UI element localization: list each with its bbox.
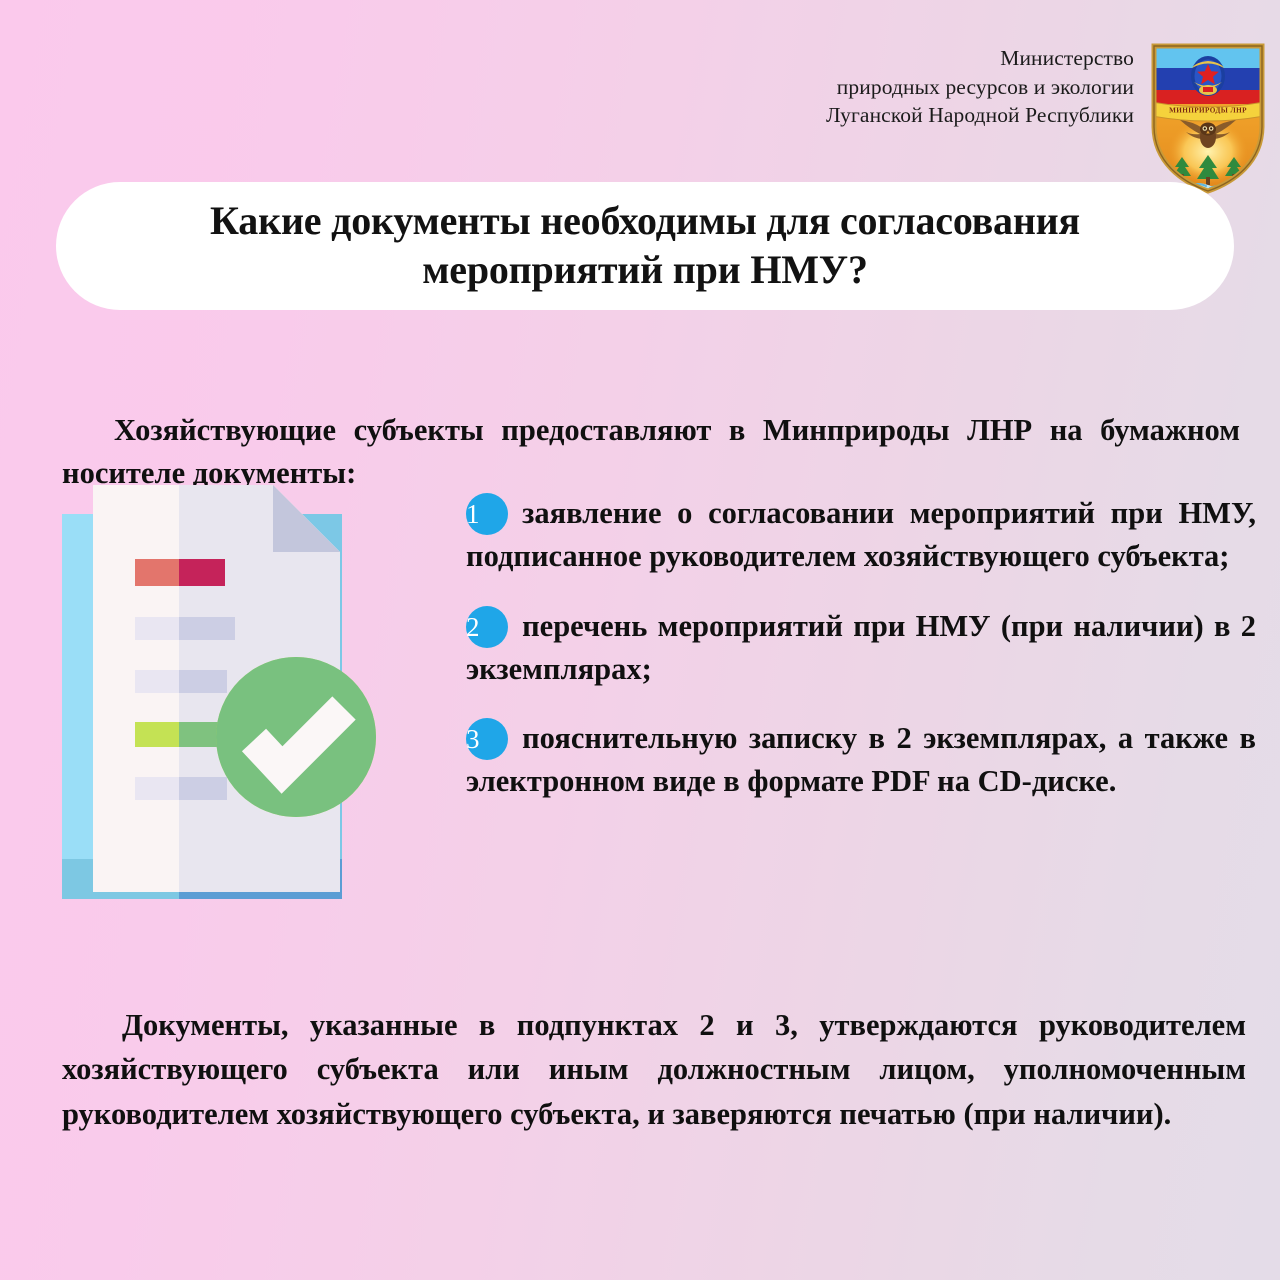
list-number-badge-1: 1	[466, 493, 508, 535]
org-line-2: природных ресурсов и экологии	[826, 73, 1134, 102]
list-number-badge-2: 2	[466, 606, 508, 648]
list-item-text-2: перечень мероприятий при НМУ (при наличи…	[466, 609, 1256, 686]
header: Министерство природных ресурсов и эколог…	[0, 0, 1280, 170]
page-title: Какие документы необходимы для согласова…	[116, 197, 1174, 295]
svg-text:МИНПРИРОДЫ ЛНР: МИНПРИРОДЫ ЛНР	[1169, 107, 1247, 115]
title-banner: Какие документы необходимы для согласова…	[56, 182, 1234, 310]
org-line-1: Министерство	[826, 44, 1134, 73]
footer-paragraph: Документы, указанные в подпунктах 2 и 3,…	[62, 1003, 1246, 1137]
infographic-poster: Министерство природных ресурсов и эколог…	[0, 0, 1280, 1280]
list-item: 2 перечень мероприятий при НМУ (при нали…	[466, 605, 1256, 692]
organization-name: Министерство природных ресурсов и эколог…	[826, 40, 1148, 130]
list-item: 3 пояснительную записку в 2 экземплярах,…	[466, 717, 1256, 804]
list-number-badge-3: 3	[466, 718, 508, 760]
document-with-green-check-icon	[58, 474, 458, 944]
lnr-ministry-emblem-icon: МИНПРИРОДЫ ЛНР	[1148, 40, 1268, 195]
list-item-text-3: пояснительную записку в 2 экземплярах, а…	[466, 721, 1256, 798]
documents-list: 1 заявление о согласовании мероприятий п…	[466, 492, 1256, 804]
org-line-3: Луганской Народной Республики	[826, 101, 1134, 130]
list-item-text-1: заявление о согласовании мероприятий при…	[466, 496, 1256, 573]
list-item: 1 заявление о согласовании мероприятий п…	[466, 492, 1256, 579]
